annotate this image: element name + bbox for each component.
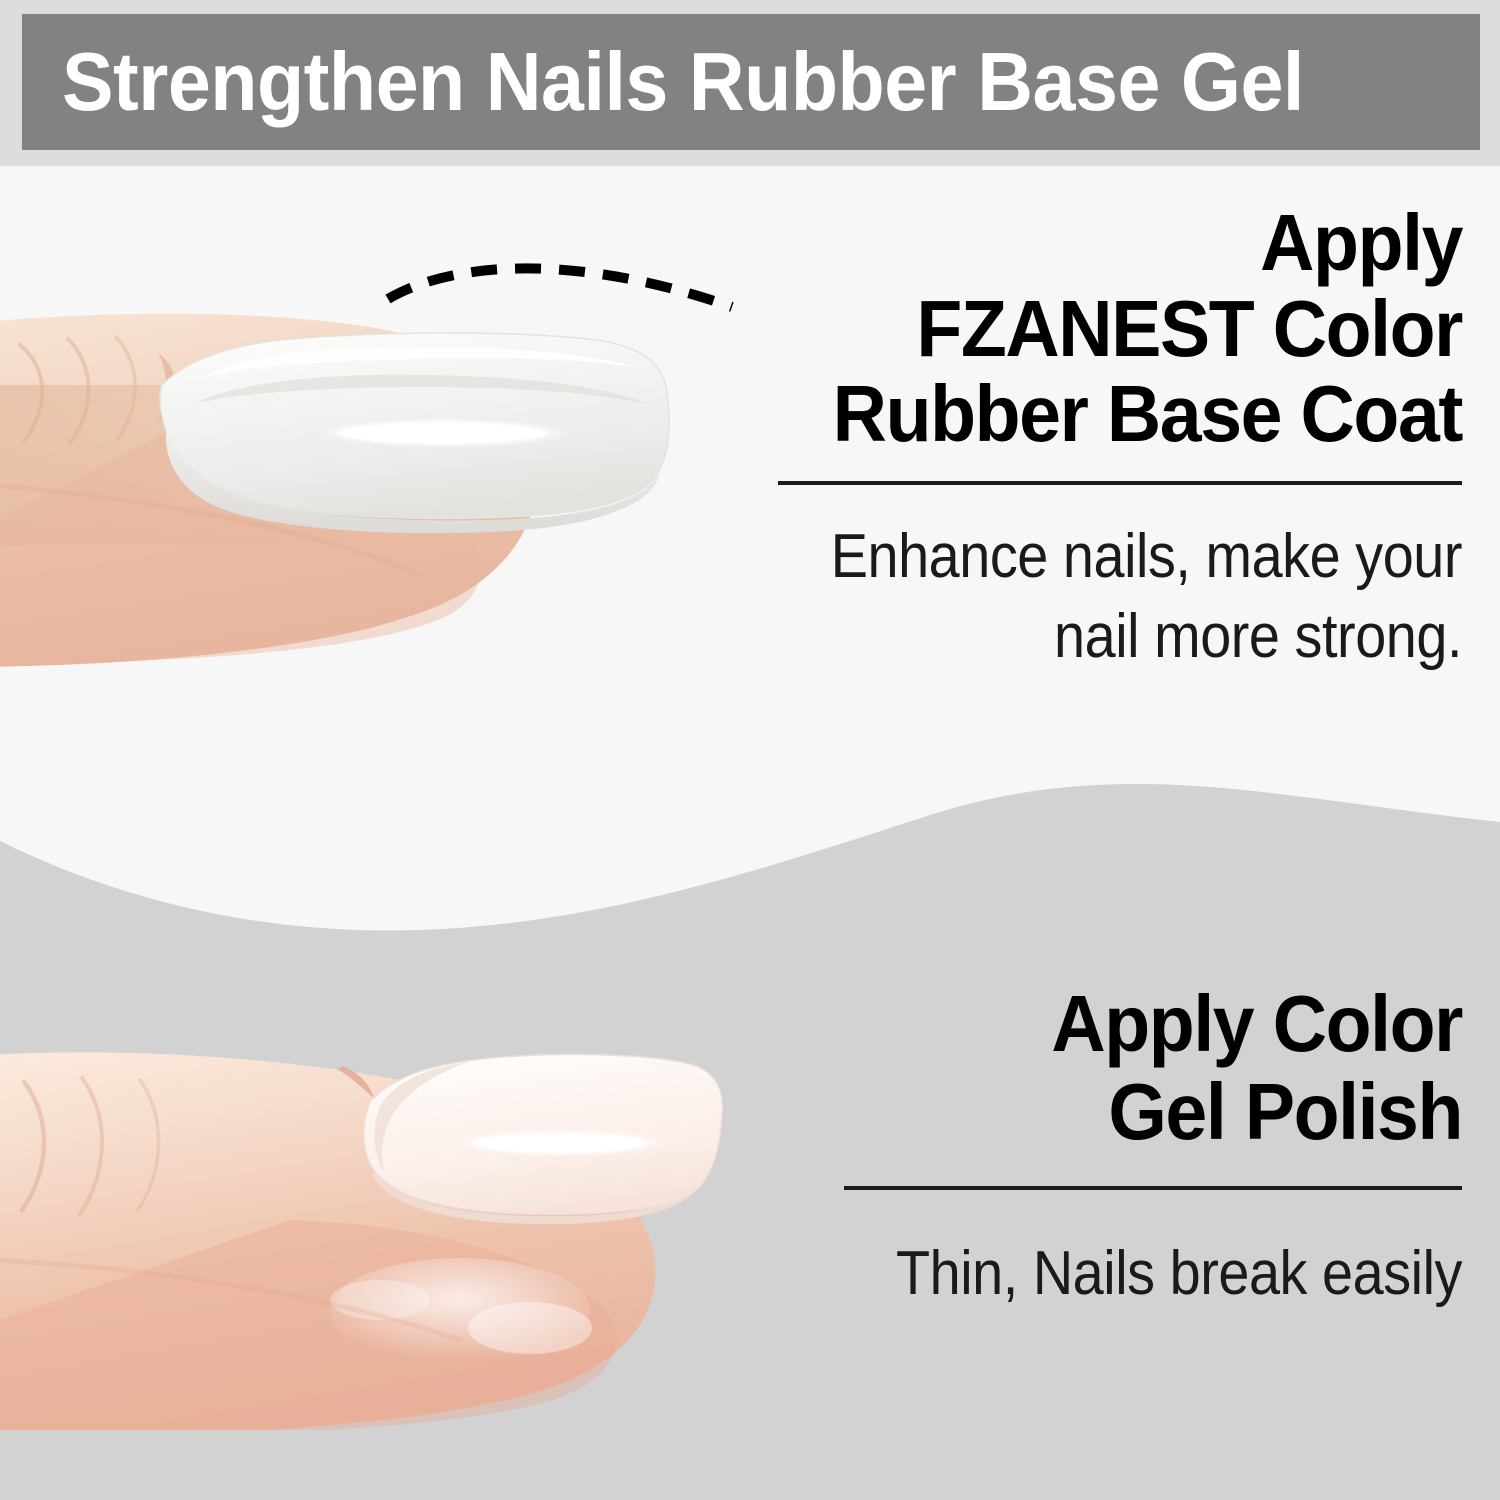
top-subtitle-line-2: nail more strong. (830, 597, 1462, 678)
top-subtitle-line-1: Enhance nails, make your (830, 517, 1462, 598)
top-divider-rule (778, 481, 1462, 485)
top-headline-line-3: Rubber Base Coat (802, 371, 1462, 457)
top-headline-line-1: Apply (802, 200, 1462, 286)
bottom-headline: Apply Color Gel Polish (802, 980, 1462, 1156)
top-headline-line-2: FZANEST Color (802, 286, 1462, 372)
top-subtitle: Enhance nails, make your nail more stron… (830, 517, 1462, 678)
bottom-headline-line-1: Apply Color (802, 980, 1462, 1068)
infographic-page: Strengthen Nails Rubber Base Gel (0, 0, 1500, 1500)
bottom-copy-block: Apply Color Gel Polish Thin, Nails break… (760, 980, 1462, 1315)
bottom-subtitle: Thin, Nails break easily (830, 1234, 1462, 1315)
top-copy-block: Apply FZANEST Color Rubber Base Coat Enh… (760, 200, 1462, 678)
bottom-divider-rule (844, 1186, 1462, 1190)
bottom-headline-line-2: Gel Polish (802, 1068, 1462, 1156)
header-banner-frame: Strengthen Nails Rubber Base Gel (0, 0, 1500, 166)
thin-nail-photo (0, 1010, 790, 1430)
top-headline: Apply FZANEST Color Rubber Base Coat (802, 200, 1462, 457)
page-title: Strengthen Nails Rubber Base Gel (62, 14, 1364, 150)
bottom-subtitle-line-1: Thin, Nails break easily (830, 1234, 1462, 1315)
thick-nail-photo (0, 235, 790, 705)
